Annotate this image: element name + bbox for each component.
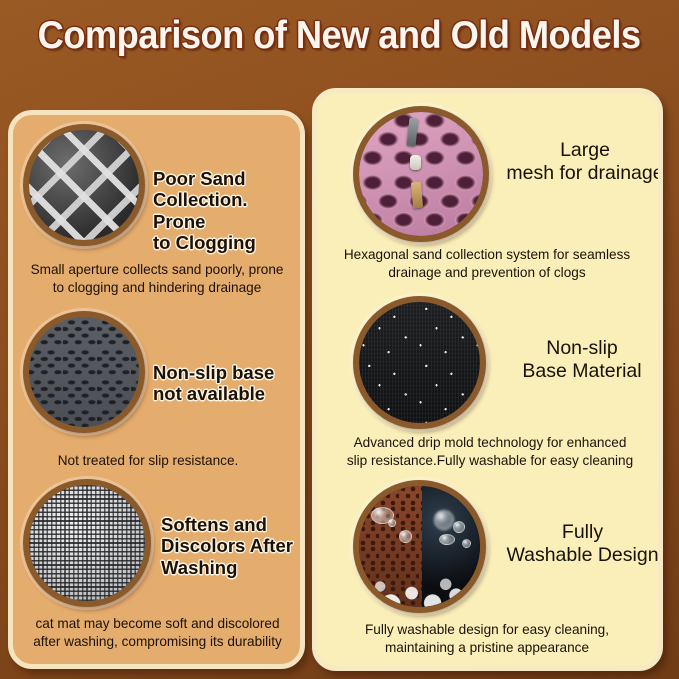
fine-mesh-fabric-photo (23, 479, 151, 607)
smooth-dimpled-base-photo (23, 311, 145, 433)
fine-mesh-fabric-texture (29, 485, 145, 601)
new-item-1-heading: Large mesh for drainage (501, 139, 663, 186)
wash-split-composite (359, 486, 480, 607)
new-item-2-heading: Non-slip Base Material (501, 337, 663, 384)
pink-hexagon-honeycomb-photo (353, 106, 489, 242)
new-item-3-caption: Fully washable design for easy cleaning,… (322, 621, 652, 656)
smooth-dimpled-base-texture (29, 317, 139, 427)
bubble-medium (399, 530, 412, 543)
page-title: Comparison of New and Old Models (38, 14, 641, 58)
soap-foam (359, 559, 480, 607)
comparison-poster: Comparison of New and Old Models Poor Sa… (0, 0, 679, 679)
new-item-3-heading: Fully Washable Design (495, 521, 663, 568)
square-grid-mesh-photo (23, 124, 145, 246)
square-grid-mesh-texture (29, 130, 139, 240)
old-model-panel: Poor Sand Collection. Prone to Clogging … (8, 110, 305, 669)
debris-tan-stick (411, 182, 423, 209)
new-item-2-caption: Advanced drip mold technology for enhanc… (322, 434, 658, 469)
new-item-1-caption: Hexagonal sand collection system for sea… (322, 246, 652, 281)
black-dotted-nonslip-backing-photo (353, 296, 486, 429)
old-item-2-heading: Non-slip base not available (153, 362, 305, 405)
old-item-2-caption: Not treated for slip resistance. (17, 452, 279, 470)
debris-white-pellet (410, 155, 421, 170)
washing-bubbles-split-photo (353, 480, 486, 613)
pink-hexagon-honeycomb-texture (359, 112, 483, 236)
new-model-panel: Large mesh for drainage Hexagonal sand c… (312, 88, 663, 671)
poster-title-bar: Comparison of New and Old Models (0, 14, 679, 58)
old-item-1-heading: Poor Sand Collection. Prone to Clogging (153, 168, 305, 254)
old-item-3-heading: Softens and Discolors After Washing (161, 514, 305, 578)
old-item-3-caption: cat mat may become soft and discolored a… (17, 615, 298, 650)
bubble-small (388, 519, 396, 527)
black-dotted-fabric-texture (359, 302, 480, 423)
old-item-1-caption: Small aperture collects sand poorly, pro… (17, 261, 297, 296)
